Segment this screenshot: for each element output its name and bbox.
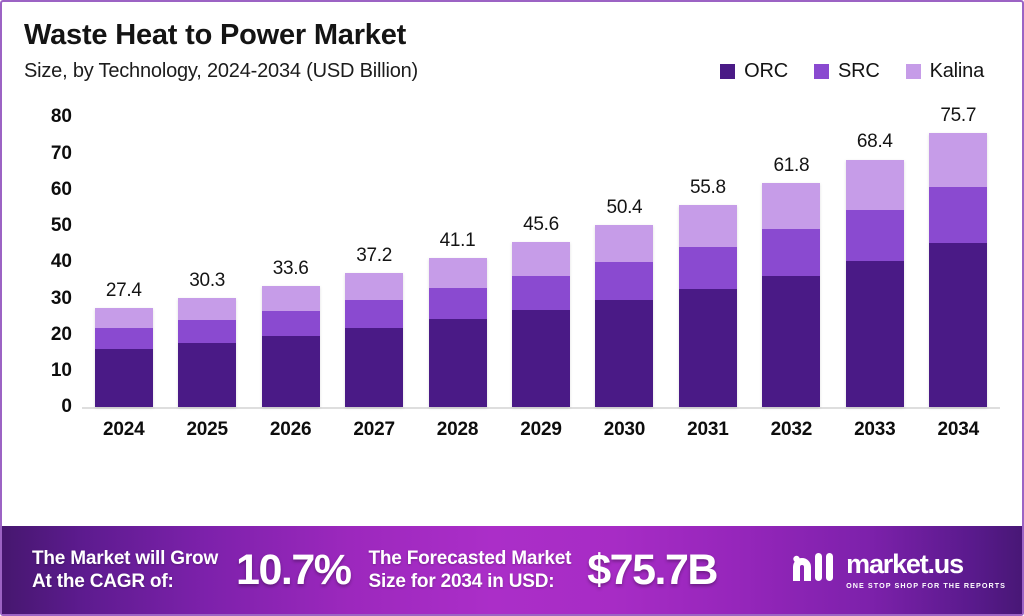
logo-tagline: ONE STOP SHOP FOR THE REPORTS (846, 581, 1006, 590)
bar-segment-src[interactable] (178, 320, 236, 343)
bar-segment-src[interactable] (512, 276, 570, 311)
bar-segment-src[interactable] (95, 328, 153, 349)
bar-group-2026[interactable]: 33.6 (249, 117, 332, 407)
legend-swatch-icon (814, 64, 829, 79)
bar-group-2031[interactable]: 55.8 (666, 117, 749, 407)
x-axis-label: 2034 (917, 419, 1000, 441)
bar-series: 27.430.333.637.241.145.650.455.861.868.4… (82, 117, 1000, 407)
bar-group-2025[interactable]: 30.3 (165, 117, 248, 407)
bar-segment-src[interactable] (595, 262, 653, 300)
forecast-block: The Forecasted Market Size for 2034 in U… (368, 546, 716, 595)
x-axis-label: 2029 (499, 419, 582, 441)
bar-segment-orc[interactable] (846, 261, 904, 407)
x-axis-label: 2032 (750, 419, 833, 441)
y-axis-tick: 0 (61, 396, 72, 418)
bar-total-label: 50.4 (583, 197, 666, 219)
bar-segment-orc[interactable] (429, 319, 487, 407)
bar-segment-src[interactable] (762, 229, 820, 276)
bar-segment-orc[interactable] (762, 276, 820, 408)
bar-segment-orc[interactable] (262, 336, 320, 407)
market-infographic: Waste Heat to Power Market Size, by Tech… (0, 0, 1024, 616)
bar-group-2033[interactable]: 68.4 (833, 117, 916, 407)
cagr-label-line1: The Market will Grow (32, 547, 218, 570)
bar-total-label: 33.6 (249, 258, 332, 280)
cagr-value: 10.7% (236, 546, 350, 595)
bar-segment-kalina[interactable] (929, 133, 987, 187)
y-axis: 01020304050607080 (20, 89, 80, 526)
x-axis-label: 2024 (82, 419, 165, 441)
y-axis-tick: 40 (51, 251, 72, 273)
bar-segment-kalina[interactable] (679, 205, 737, 246)
legend-label: Kalina (930, 60, 984, 83)
bar-stack[interactable] (429, 258, 487, 407)
chart-plot-area: 01020304050607080 27.430.333.637.241.145… (20, 89, 1004, 526)
cagr-block: The Market will Grow At the CAGR of: 10.… (32, 546, 350, 595)
bar-total-label: 61.8 (750, 155, 833, 177)
bar-stack[interactable] (262, 286, 320, 408)
bar-segment-src[interactable] (345, 300, 403, 328)
y-axis-tick: 60 (51, 179, 72, 201)
bar-total-label: 41.1 (416, 230, 499, 252)
bar-segment-kalina[interactable] (846, 160, 904, 210)
bar-segment-kalina[interactable] (345, 273, 403, 301)
x-axis-label: 2027 (332, 419, 415, 441)
legend-item-src[interactable]: SRC (814, 60, 880, 83)
market-us-logo[interactable]: market.us ONE STOP SHOP FOR THE REPORTS (791, 551, 1006, 590)
bar-segment-kalina[interactable] (595, 225, 653, 262)
bar-segment-orc[interactable] (345, 328, 403, 407)
bar-stack[interactable] (595, 225, 653, 408)
bar-total-label: 27.4 (82, 280, 165, 302)
forecast-value: $75.7B (587, 546, 717, 595)
bar-group-2024[interactable]: 27.4 (82, 117, 165, 407)
legend-swatch-icon (906, 64, 921, 79)
bar-total-label: 68.4 (833, 131, 916, 153)
bar-segment-kalina[interactable] (178, 298, 236, 320)
legend-item-kalina[interactable]: Kalina (906, 60, 984, 83)
x-axis-label: 2030 (583, 419, 666, 441)
bar-segment-orc[interactable] (929, 243, 987, 408)
bar-segment-src[interactable] (429, 288, 487, 319)
bar-stack[interactable] (512, 242, 570, 407)
bar-segment-kalina[interactable] (762, 183, 820, 228)
y-axis-tick: 50 (51, 215, 72, 237)
x-axis-label: 2031 (666, 419, 749, 441)
logo-name: market.us (846, 551, 1006, 578)
logo-text: market.us ONE STOP SHOP FOR THE REPORTS (846, 551, 1006, 590)
y-axis-tick: 10 (51, 360, 72, 382)
y-axis-tick: 70 (51, 143, 72, 165)
bar-segment-orc[interactable] (595, 300, 653, 407)
bar-segment-src[interactable] (929, 187, 987, 243)
bar-group-2028[interactable]: 41.1 (416, 117, 499, 407)
page-title: Waste Heat to Power Market (24, 20, 1000, 50)
bar-segment-src[interactable] (679, 247, 737, 289)
bar-stack[interactable] (846, 160, 904, 408)
chart-header: Waste Heat to Power Market Size, by Tech… (2, 2, 1022, 83)
legend-item-orc[interactable]: ORC (720, 60, 788, 83)
bar-segment-src[interactable] (262, 311, 320, 336)
y-axis-tick: 30 (51, 288, 72, 310)
x-axis-label: 2025 (165, 419, 248, 441)
bar-segment-src[interactable] (846, 210, 904, 261)
bar-stack[interactable] (679, 205, 737, 407)
forecast-label-line1: The Forecasted Market (368, 547, 571, 570)
bar-total-label: 75.7 (917, 105, 1000, 127)
axis-baseline (82, 407, 1000, 409)
cagr-label-line2: At the CAGR of: (32, 570, 218, 593)
legend-label: SRC (838, 60, 880, 83)
forecast-label: The Forecasted Market Size for 2034 in U… (368, 547, 571, 593)
forecast-label-line2: Size for 2034 in USD: (368, 570, 571, 593)
bar-stack[interactable] (929, 133, 987, 407)
market-us-logo-icon (791, 551, 837, 590)
bar-group-2030[interactable]: 50.4 (583, 117, 666, 407)
bar-total-label: 45.6 (499, 214, 582, 236)
summary-banner: The Market will Grow At the CAGR of: 10.… (2, 526, 1022, 614)
chart-legend: ORCSRCKalina (720, 60, 984, 83)
y-axis-tick: 80 (51, 106, 72, 128)
bars-region: 27.430.333.637.241.145.650.455.861.868.4… (82, 89, 1000, 526)
cagr-label: The Market will Grow At the CAGR of: (32, 547, 218, 593)
bar-segment-orc[interactable] (512, 310, 570, 407)
bar-segment-orc[interactable] (178, 343, 236, 408)
bar-segment-kalina[interactable] (429, 258, 487, 288)
bar-group-2034[interactable]: 75.7 (917, 117, 1000, 407)
bar-segment-orc[interactable] (679, 289, 737, 408)
bar-segment-kalina[interactable] (512, 242, 570, 275)
legend-label: ORC (744, 60, 788, 83)
x-axis-label: 2028 (416, 419, 499, 441)
bar-segment-kalina[interactable] (262, 286, 320, 311)
bar-segment-orc[interactable] (95, 349, 153, 407)
bar-group-2027[interactable]: 37.2 (332, 117, 415, 407)
bar-total-label: 30.3 (165, 270, 248, 292)
bar-group-2029[interactable]: 45.6 (499, 117, 582, 407)
bar-group-2032[interactable]: 61.8 (750, 117, 833, 407)
x-axis: 2024202520262027202820292030203120322033… (82, 419, 1000, 441)
legend-swatch-icon (720, 64, 735, 79)
y-axis-tick: 20 (51, 324, 72, 346)
x-axis-label: 2033 (833, 419, 916, 441)
bar-stack[interactable] (345, 273, 403, 408)
x-axis-label: 2026 (249, 419, 332, 441)
bar-stack[interactable] (95, 308, 153, 407)
bar-total-label: 55.8 (666, 177, 749, 199)
bar-stack[interactable] (762, 183, 820, 407)
bar-stack[interactable] (178, 298, 236, 408)
bar-total-label: 37.2 (332, 245, 415, 267)
bar-segment-kalina[interactable] (95, 308, 153, 328)
